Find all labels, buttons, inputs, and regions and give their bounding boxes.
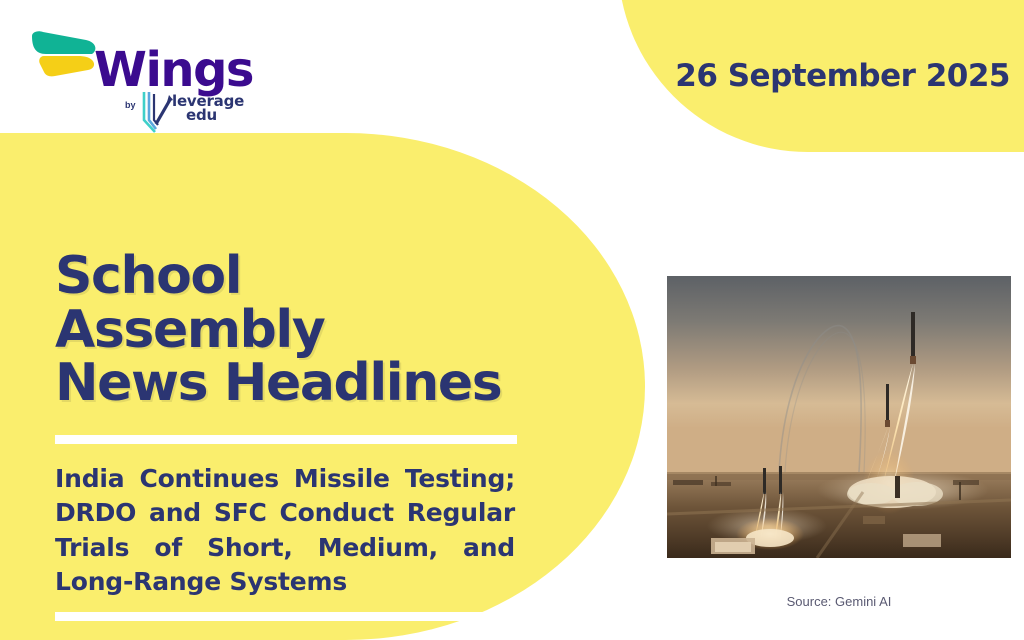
page-title-line-1: School Assembly xyxy=(55,250,515,357)
headline-block: School Assembly News Headlines India Con… xyxy=(55,250,515,600)
missile-launch-illustration xyxy=(667,276,1011,558)
news-subheadline: India Continues Missile Testing; DRDO an… xyxy=(55,462,515,600)
news-photo xyxy=(667,276,1011,558)
photo-source-caption: Source: Gemini AI xyxy=(667,594,1011,609)
leverage-check-icon xyxy=(140,90,174,134)
publication-date: 26 September 2025 xyxy=(675,58,1010,94)
page-title-line-2: News Headlines xyxy=(55,357,515,411)
wing-swoosh-icon xyxy=(30,30,100,78)
brand-sub-line2: edu xyxy=(186,108,244,122)
brand-sub-wordmark: leverage edu xyxy=(172,94,244,123)
brand-by-label: by xyxy=(125,100,136,110)
brand-logo[interactable]: Wings by leverage edu xyxy=(22,22,252,127)
page-title: School Assembly News Headlines xyxy=(55,250,515,411)
divider-top xyxy=(55,435,517,444)
divider-bottom xyxy=(55,612,517,621)
